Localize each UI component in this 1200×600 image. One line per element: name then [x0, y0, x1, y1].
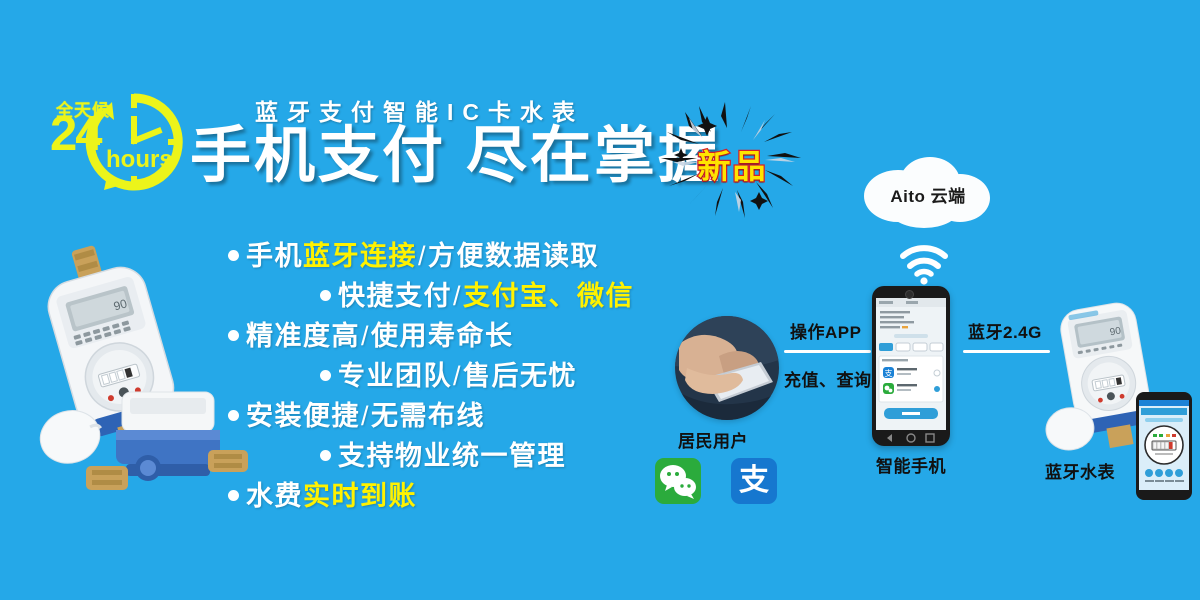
connector-user-phone: [784, 350, 871, 353]
phone-navbar: [876, 430, 946, 446]
bullet-dot-icon: [320, 290, 331, 301]
banner-stage: 全天候 24 hours 蓝牙支付智能IC卡水表 手机支付尽在掌握: [0, 0, 1200, 600]
smartphone-label: 智能手机: [876, 452, 946, 477]
feature-text: 水费: [246, 481, 303, 511]
feature-text-highlight: 实时到账: [303, 481, 417, 511]
bullet-dot-icon: [228, 330, 239, 341]
connector-phone-meter: [963, 350, 1050, 353]
cloud-label: Aito 云端: [858, 182, 998, 207]
payment-icons-group: 支: [655, 458, 785, 504]
new-product-label: 新品: [655, 140, 810, 188]
feature-text: 无需布线: [371, 401, 485, 431]
smartphone-device: 支: [872, 286, 950, 446]
badge-24-number: 24: [50, 110, 101, 159]
feature-text: 方便数据读取: [428, 241, 599, 271]
feature-separator: /: [417, 241, 428, 271]
feature-separator: /: [360, 321, 371, 351]
feature-item: 专业团队/售后无忧: [228, 356, 698, 396]
banner-title: 手机支付尽在掌握: [190, 122, 722, 188]
feature-item: 精准度高/使用寿命长: [228, 316, 698, 356]
badge-24-hours: 全天候 24 hours: [48, 84, 198, 194]
feature-text: 售后无忧: [463, 361, 577, 391]
feature-text-highlight: 蓝牙连接: [303, 241, 417, 271]
hand-holding-phone-image: [675, 316, 779, 420]
small-phone-screen: [1139, 400, 1189, 490]
bullet-dot-icon: [320, 450, 331, 461]
feature-text: 支持物业统一管理: [338, 441, 566, 471]
feature-text: 快捷支付: [338, 281, 452, 311]
wifi-icon: [898, 243, 950, 285]
feature-text: 手机: [246, 241, 303, 271]
valve-control-water-meter-image: [82, 370, 252, 505]
alipay-icon[interactable]: 支: [731, 458, 777, 504]
feature-text: 精准度高: [246, 321, 360, 351]
cloud-shape: Aito 云端: [858, 152, 998, 230]
feature-item: 支持物业统一管理: [228, 436, 698, 476]
svg-text:支: 支: [885, 368, 893, 378]
phone-screen: 支: [876, 298, 946, 430]
feature-item: 安装便捷/无需布线: [228, 396, 698, 436]
feature-separator: /: [452, 281, 463, 311]
resident-user-label: 居民用户: [678, 427, 748, 452]
badge-24-unit: hours: [106, 146, 173, 174]
phone-app-screen: 支: [876, 298, 946, 430]
bluetooth-24g-label: 蓝牙2.4G: [968, 318, 1042, 343]
feature-list: 手机蓝牙连接/方便数据读取快捷支付/支付宝、微信精准度高/使用寿命长专业团队/售…: [228, 236, 698, 516]
feature-text: 使用寿命长: [371, 321, 514, 351]
recharge-query-label: 充值、查询: [784, 366, 872, 391]
feature-item: 快捷支付/支付宝、微信: [228, 276, 698, 316]
feature-text-highlight: 支付宝、微信: [463, 281, 634, 311]
bluetooth-water-meter-label: 蓝牙水表: [1045, 458, 1115, 483]
new-product-badge: 新品: [655, 96, 810, 221]
meter-app-phone: [1136, 392, 1192, 500]
feature-separator: /: [452, 361, 463, 391]
banner-title-part1: 手机支付: [190, 121, 446, 189]
bullet-dot-icon: [320, 370, 331, 381]
resident-user-photo: [675, 316, 779, 420]
bullet-dot-icon: [228, 250, 239, 261]
wechat-pay-icon[interactable]: [655, 458, 701, 504]
feature-item: 手机蓝牙连接/方便数据读取: [228, 236, 698, 276]
operate-app-label: 操作APP: [790, 318, 861, 343]
feature-separator: /: [360, 401, 371, 431]
feature-text: 安装便捷: [246, 401, 360, 431]
phone-camera: [905, 290, 914, 299]
meter-reading-app-screen: [1139, 400, 1189, 490]
feature-text: 专业团队: [338, 361, 452, 391]
alipay-glyph: 支: [731, 458, 777, 504]
feature-item: 水费实时到账: [228, 476, 698, 516]
wechat-glyph: [655, 458, 701, 504]
